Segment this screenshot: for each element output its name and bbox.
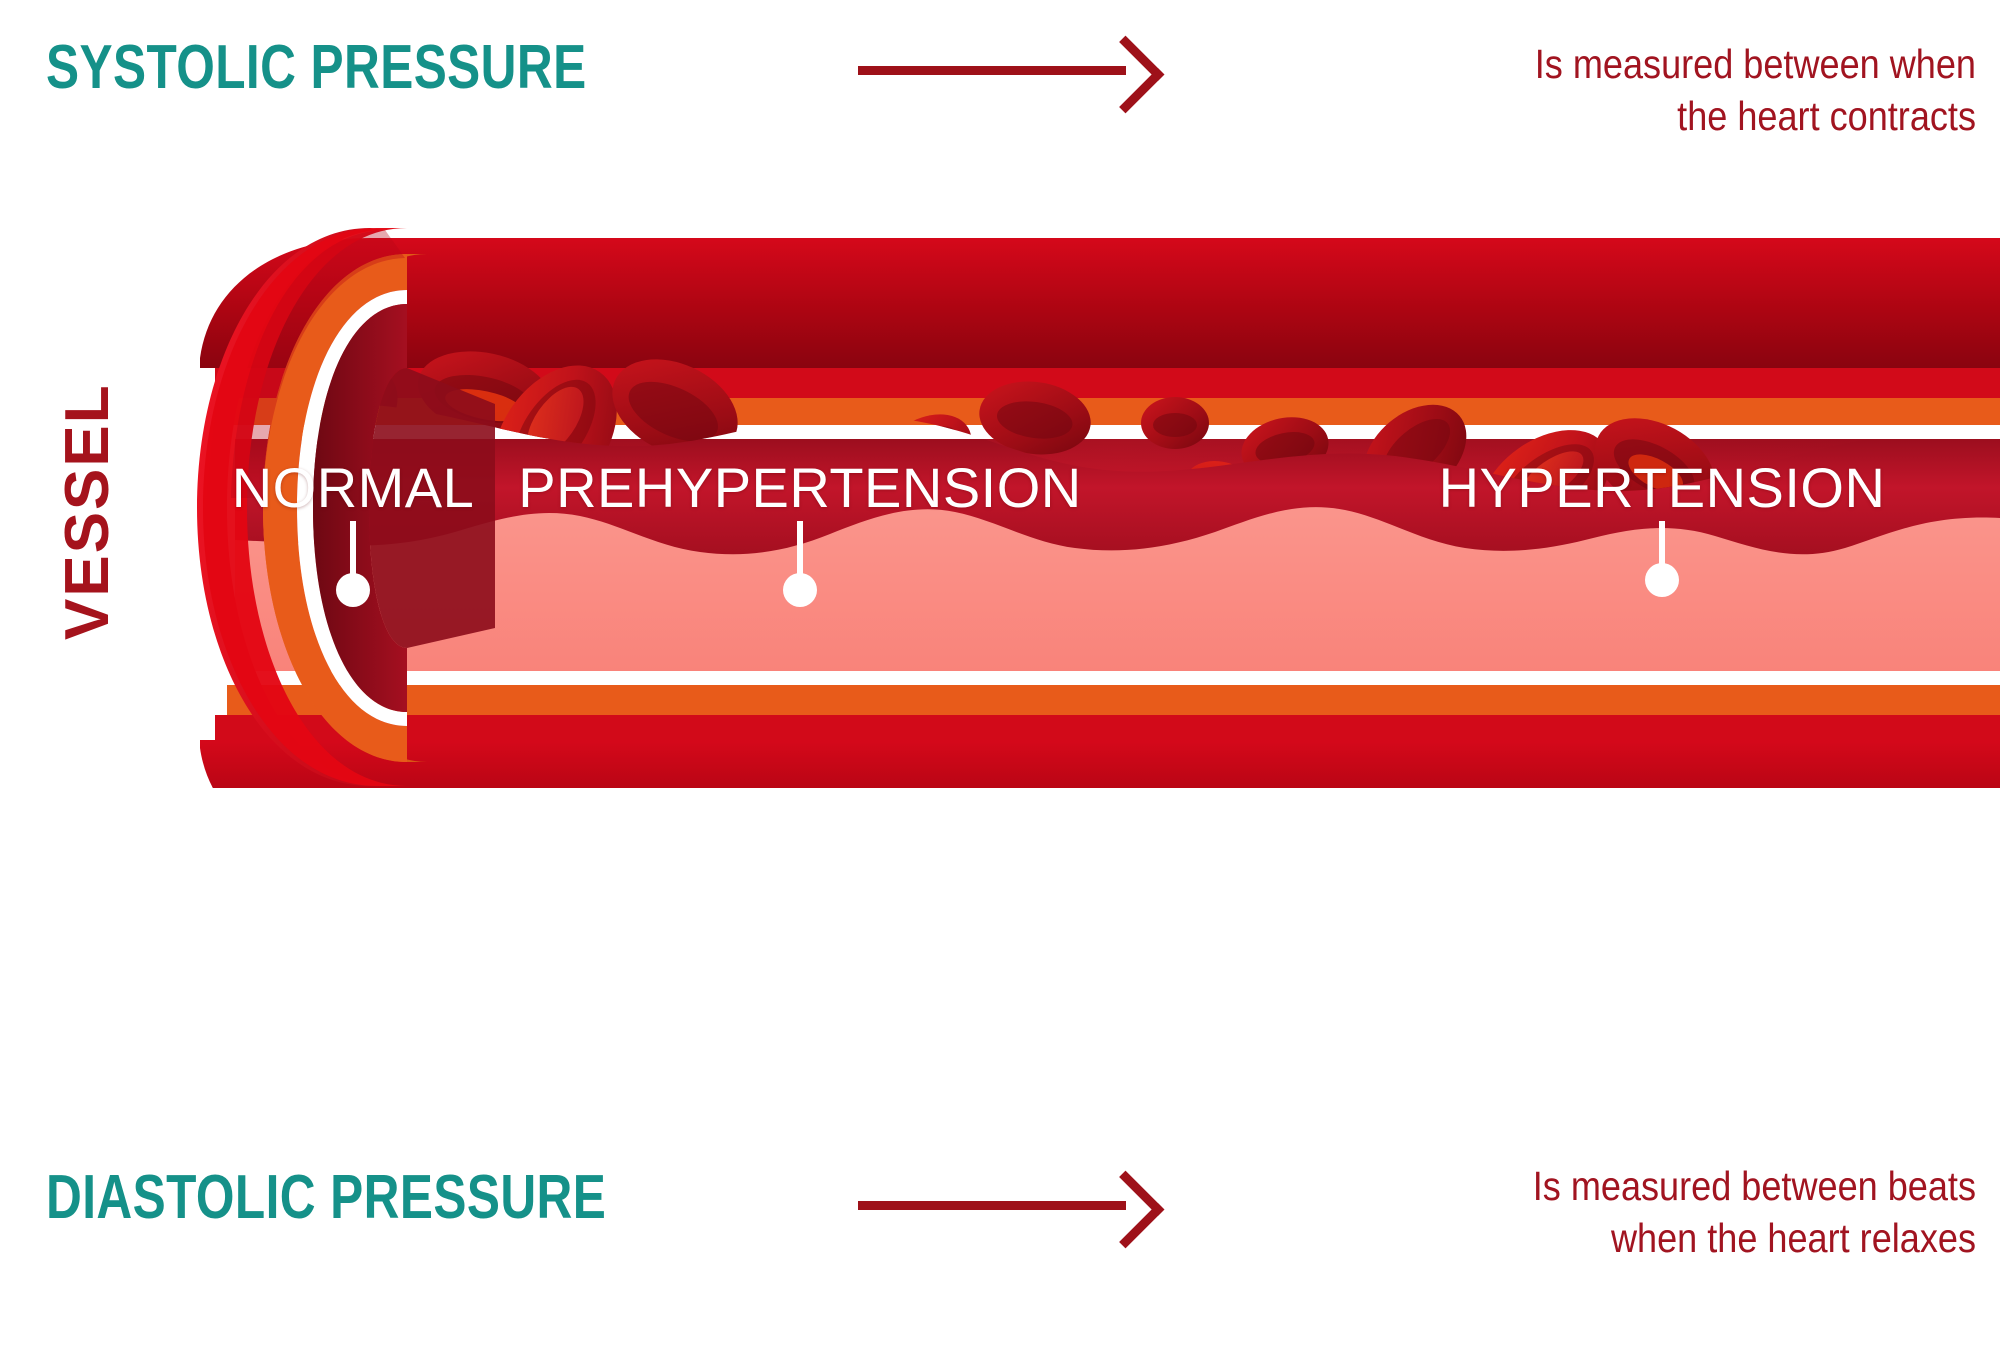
stage-label-hypertension: HYPERTENSION xyxy=(1439,455,1886,520)
vessel-bottom-orange-layer xyxy=(227,685,2000,715)
right-arrow-icon xyxy=(1087,1171,1165,1249)
stage-label-normal: NORMAL xyxy=(232,455,475,520)
vessel-bottom-inner-red xyxy=(215,715,2000,740)
infographic-canvas: SYSTOLIC PRESSURE Is measured between wh… xyxy=(0,0,2000,1361)
stage-stem xyxy=(797,521,803,579)
diastolic-arrow xyxy=(858,1180,1158,1230)
stage-stem xyxy=(1659,521,1665,569)
stage-dot xyxy=(783,573,817,607)
diastolic-pressure-title: DIASTOLIC PRESSURE xyxy=(46,1162,606,1233)
right-arrow-icon xyxy=(1087,36,1165,114)
vessel-label: VESSEL xyxy=(52,383,123,640)
stage-dot xyxy=(1645,563,1679,597)
vessel-bottom-white-lining xyxy=(235,671,2000,685)
systolic-pressure-title: SYSTOLIC PRESSURE xyxy=(46,32,587,103)
diastolic-description: Is measured between beats when the heart… xyxy=(1307,1160,1976,1265)
vessel-bottom-wall xyxy=(200,740,2000,788)
systolic-description: Is measured between when the heart contr… xyxy=(1307,38,1976,143)
stage-dot xyxy=(336,573,370,607)
vessel-top-wall xyxy=(200,238,2000,368)
stage-label-prehypertension: PREHYPERTENSION xyxy=(518,455,1081,520)
systolic-arrow xyxy=(858,45,1158,95)
stage-stem xyxy=(350,521,356,579)
